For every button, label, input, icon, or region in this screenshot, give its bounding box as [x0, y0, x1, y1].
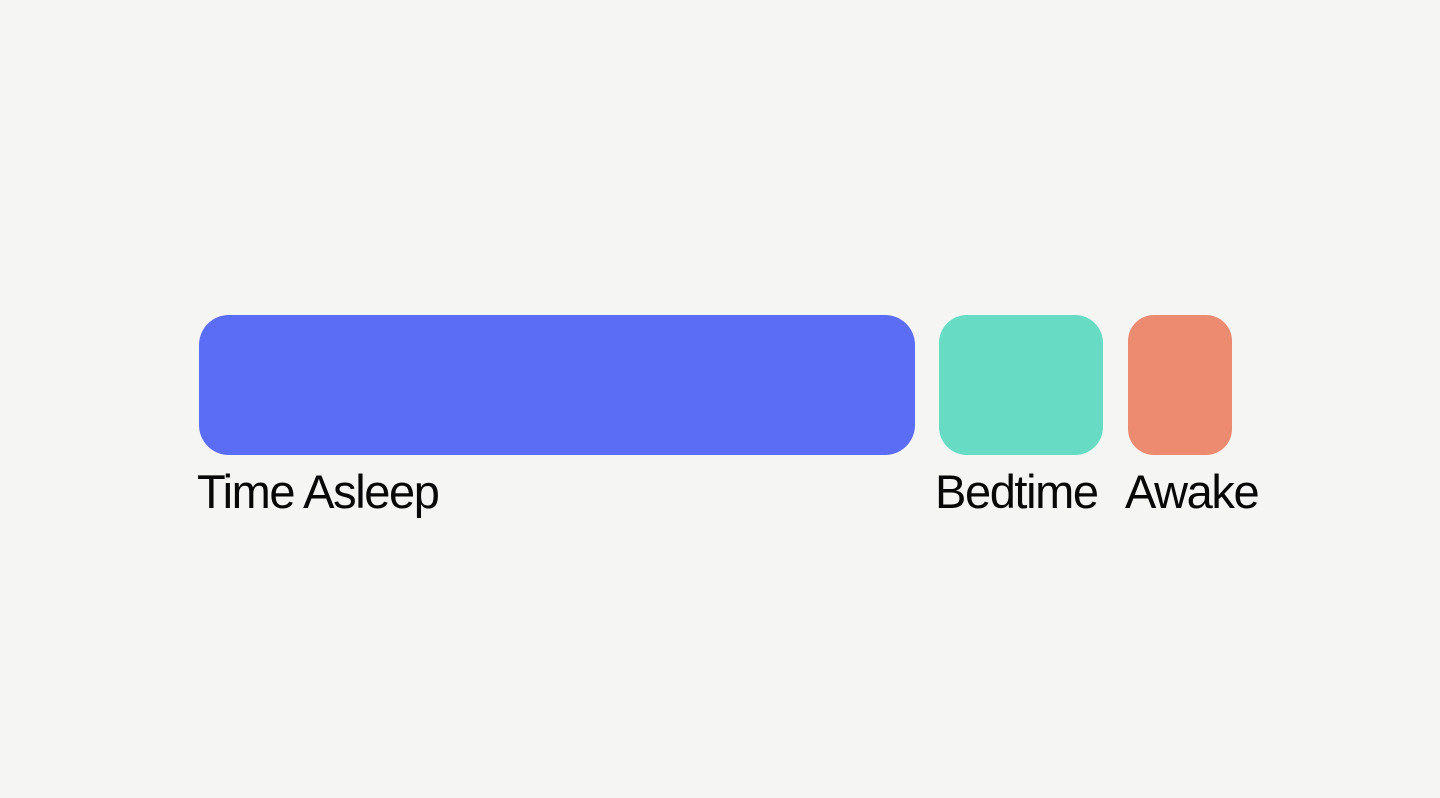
legend-bar-awake[interactable]: [1128, 315, 1232, 455]
legend-bar-time-asleep[interactable]: [199, 315, 915, 455]
sleep-legend-canvas: Time Asleep Bedtime Awake: [0, 0, 1440, 798]
legend-labels-row: Time Asleep Bedtime Awake: [199, 455, 1232, 525]
sleep-stage-legend: Time Asleep Bedtime Awake: [199, 315, 1232, 540]
legend-label-bedtime: Bedtime: [935, 468, 1098, 515]
legend-bars-row: [199, 315, 1232, 455]
legend-bar-bedtime[interactable]: [939, 315, 1103, 455]
legend-label-time-asleep: Time Asleep: [197, 468, 438, 515]
legend-label-awake: Awake: [1125, 468, 1258, 515]
